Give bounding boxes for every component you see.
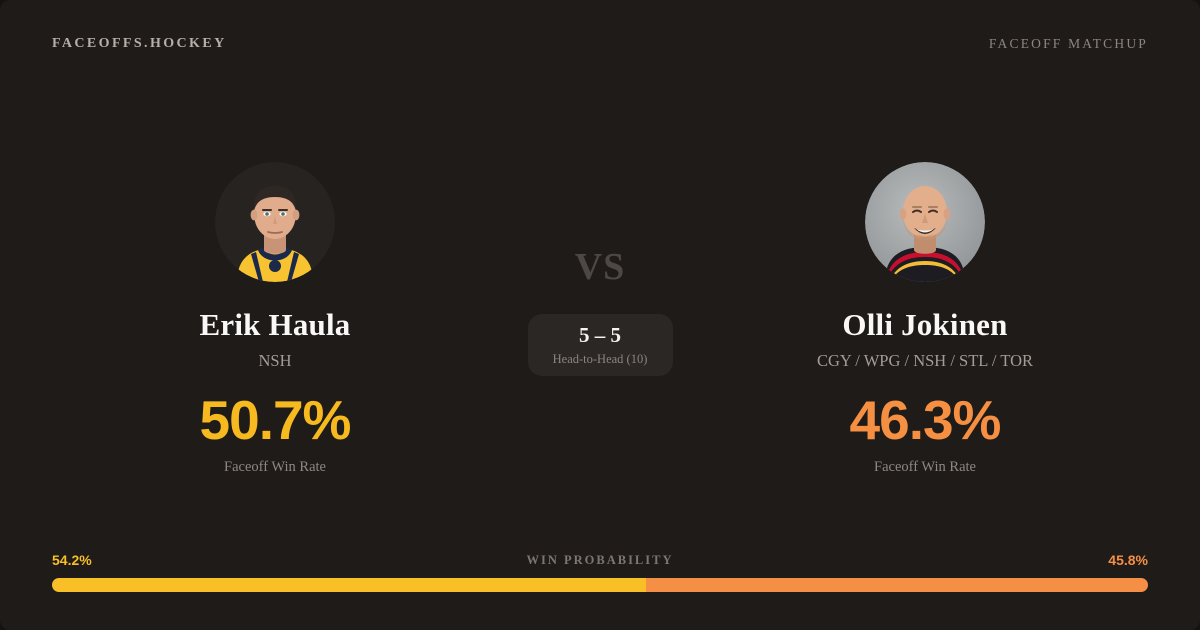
head-to-head-card: 5 – 5 Head-to-Head (10) — [528, 314, 673, 376]
site-brand: FACEOFFS.HOCKEY — [52, 36, 227, 52]
olli-jokinen-headshot-icon — [865, 162, 985, 282]
player-left-faceoff-label: Faceoff Win Rate — [224, 459, 326, 476]
erik-haula-headshot-icon — [215, 162, 335, 282]
player-left-name: Erik Haula — [199, 308, 350, 342]
win-probability-bar-right-segment — [646, 578, 1148, 592]
player-right-faceoff-label: Faceoff Win Rate — [874, 459, 976, 476]
avatar — [215, 162, 335, 282]
player-right-teams: CGY / WPG / NSH / STL / TOR — [817, 351, 1033, 371]
header-bar: FACEOFFS.HOCKEY FACEOFF MATCHUP — [0, 0, 1200, 88]
win-probability-section: 54.2% WIN PROBABILITY 45.8% — [52, 550, 1148, 592]
matchup-body: Erik Haula NSH 50.7% Faceoff Win Rate VS… — [0, 100, 1200, 500]
win-probability-bar — [52, 578, 1148, 592]
versus-column: VS 5 – 5 Head-to-Head (10) — [490, 100, 710, 376]
avatar — [865, 162, 985, 282]
player-right: Olli Jokinen CGY / WPG / NSH / STL / TOR… — [710, 100, 1140, 476]
player-left: Erik Haula NSH 50.7% Faceoff Win Rate — [60, 100, 490, 476]
player-right-faceoff-pct: 46.3% — [850, 393, 1001, 448]
player-left-faceoff-pct: 50.7% — [200, 393, 351, 448]
faceoff-matchup-card: FACEOFFS.HOCKEY FACEOFF MATCHUP — [0, 0, 1200, 630]
head-to-head-score: 5 – 5 — [579, 325, 621, 346]
player-left-teams: NSH — [258, 351, 291, 371]
win-probability-bar-left-segment — [52, 578, 646, 592]
vs-label: VS — [575, 248, 626, 286]
win-probability-labels: 54.2% WIN PROBABILITY 45.8% — [52, 550, 1148, 570]
player-right-name: Olli Jokinen — [842, 308, 1007, 342]
win-probability-title: WIN PROBABILITY — [52, 553, 1148, 568]
head-to-head-label: Head-to-Head (10) — [553, 353, 648, 366]
page-kicker: FACEOFF MATCHUP — [989, 36, 1148, 52]
